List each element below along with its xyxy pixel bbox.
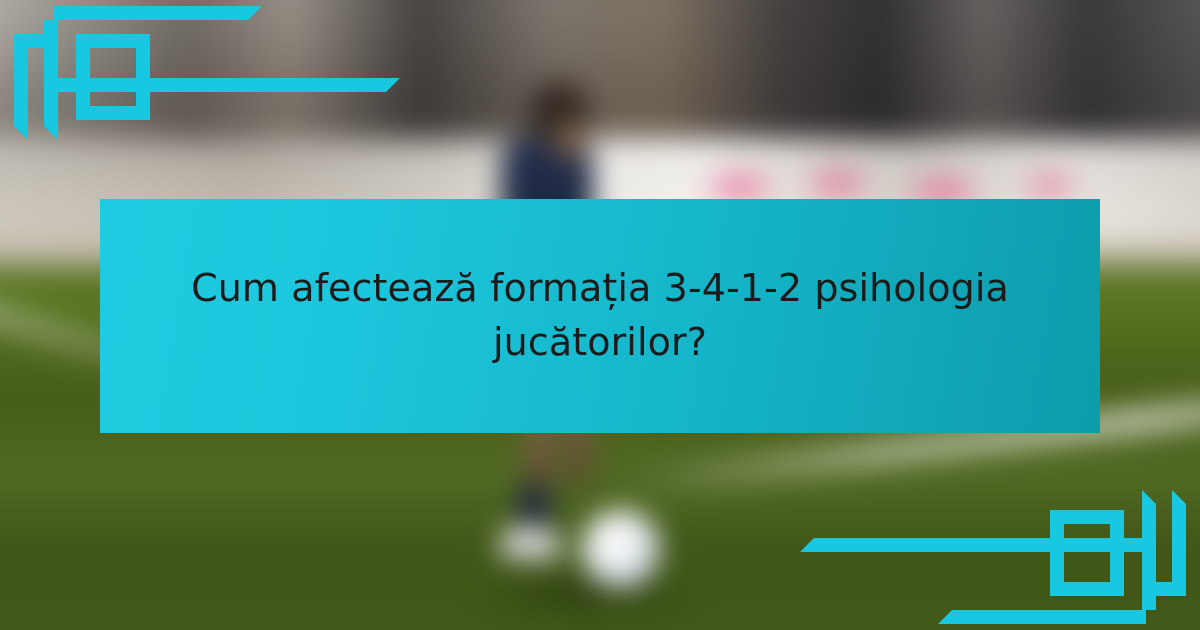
player-sock <box>518 485 550 527</box>
player-shadow <box>472 571 702 617</box>
headline-banner: Cum afectează formația 3-4-1-2 psihologi… <box>100 199 1100 433</box>
player-boot <box>500 528 562 560</box>
player-face <box>553 120 585 160</box>
share-card: Cum afectează formația 3-4-1-2 psihologi… <box>0 0 1200 630</box>
stadium-stand <box>0 0 1200 145</box>
soccer-ball <box>582 510 660 588</box>
headline-text: Cum afectează formația 3-4-1-2 psihologi… <box>170 262 1030 370</box>
